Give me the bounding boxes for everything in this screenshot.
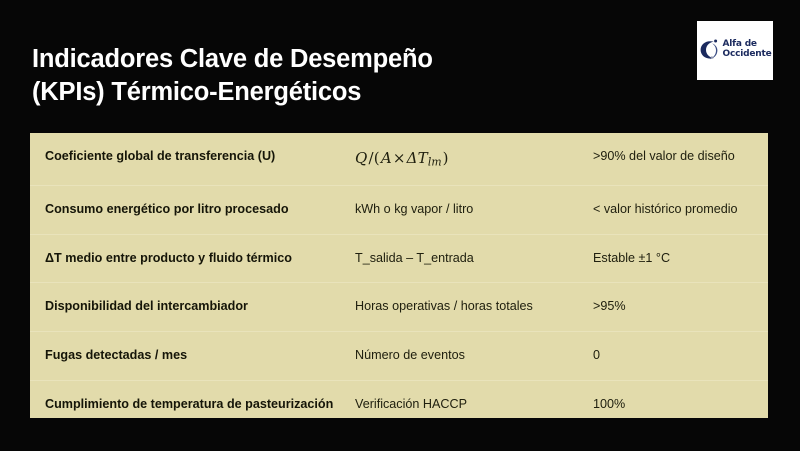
kpi-table-body: Coeficiente global de transferencia (U) … xyxy=(30,133,768,418)
slide-root: Indicadores Clave de Desempeño (KPIs) Té… xyxy=(0,0,800,451)
formula-delta-t: ΔT xyxy=(407,149,428,167)
kpi-formula: Q/(A×ΔTlm) xyxy=(355,133,593,185)
company-logo: Alfa de Occidente xyxy=(697,21,773,80)
kpi-formula: Número de eventos xyxy=(355,331,593,380)
table-row: Cumplimiento de temperatura de pasteuriz… xyxy=(30,380,768,418)
kpi-target: >95% xyxy=(593,283,768,332)
kpi-indicator: ΔT medio entre producto y fluido térmico xyxy=(30,234,355,283)
formula-close-paren: ) xyxy=(442,149,450,167)
kpi-indicator: Cumplimiento de temperatura de pasteuriz… xyxy=(30,380,355,418)
logo-wordmark-line-2: Occidente xyxy=(723,50,772,59)
table-row: Fugas detectadas / mes Número de eventos… xyxy=(30,331,768,380)
formula-times: × xyxy=(392,149,407,167)
kpi-formula-math: Q/(A×ΔTlm) xyxy=(355,149,450,167)
page-title-line-2: (KPIs) Térmico-Energéticos xyxy=(32,76,592,109)
kpi-target: 100% xyxy=(593,380,768,418)
page-title: Indicadores Clave de Desempeño (KPIs) Té… xyxy=(32,43,592,108)
kpi-indicator: Consumo energético por litro procesado xyxy=(30,185,355,234)
kpi-formula: kWh o kg vapor / litro xyxy=(355,185,593,234)
kpi-indicator: Fugas detectadas / mes xyxy=(30,331,355,380)
page-title-line-1: Indicadores Clave de Desempeño xyxy=(32,43,592,76)
kpi-table: Coeficiente global de transferencia (U) … xyxy=(30,133,768,418)
kpi-target: Estable ±1 °C xyxy=(593,234,768,283)
table-row: Disponibilidad del intercambiador Horas … xyxy=(30,283,768,332)
logo-wordmark: Alfa de Occidente xyxy=(723,40,772,59)
table-row: Consumo energético por litro procesado k… xyxy=(30,185,768,234)
kpi-indicator: Disponibilidad del intercambiador xyxy=(30,283,355,332)
table-row: ΔT medio entre producto y fluido térmico… xyxy=(30,234,768,283)
kpi-formula: Verificación HACCP xyxy=(355,380,593,418)
alfa-de-occidente-logo-icon xyxy=(699,38,721,62)
formula-subscript-lm: lm xyxy=(428,155,442,168)
formula-slash-open: /( xyxy=(368,149,381,167)
kpi-table-panel: Coeficiente global de transferencia (U) … xyxy=(30,133,768,418)
formula-q: Q xyxy=(355,149,368,167)
kpi-target: 0 xyxy=(593,331,768,380)
table-row: Coeficiente global de transferencia (U) … xyxy=(30,133,768,185)
kpi-target: >90% del valor de diseño xyxy=(593,133,768,185)
formula-a: A xyxy=(381,149,392,167)
kpi-formula: T_salida – T_entrada xyxy=(355,234,593,283)
kpi-indicator: Coeficiente global de transferencia (U) xyxy=(30,133,355,185)
kpi-formula: Horas operativas / horas totales xyxy=(355,283,593,332)
kpi-target: < valor histórico promedio xyxy=(593,185,768,234)
